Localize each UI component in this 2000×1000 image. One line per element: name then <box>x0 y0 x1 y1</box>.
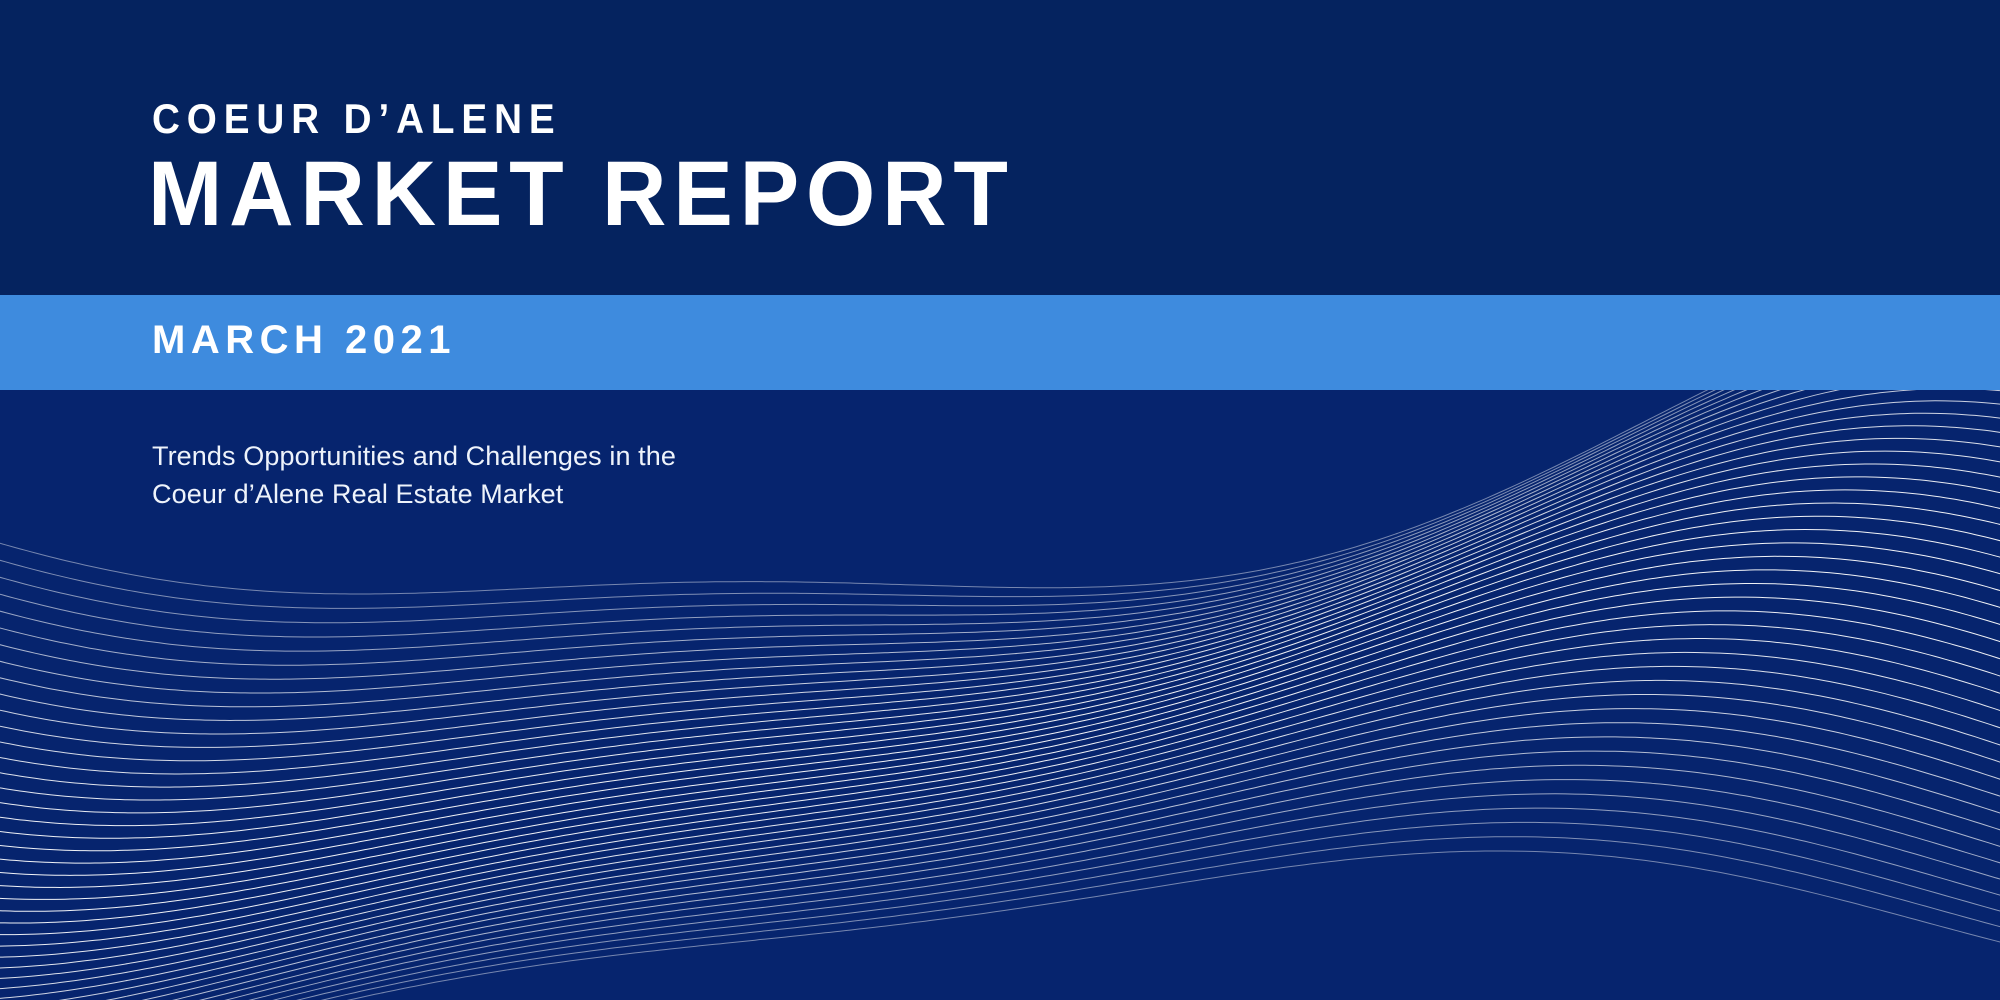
cover-eyebrow: COEUR D’ALENE <box>152 98 562 140</box>
issue-date: MARCH 2021 <box>152 320 456 360</box>
cover-text-layer: COEUR D’ALENE MARKET REPORT MARCH 2021 T… <box>0 0 2000 1000</box>
page-title: MARKET REPORT <box>148 148 1015 240</box>
cover-subtitle: Trends Opportunities and Challenges in t… <box>152 437 676 514</box>
report-cover: COEUR D’ALENE MARKET REPORT MARCH 2021 T… <box>0 0 2000 1000</box>
